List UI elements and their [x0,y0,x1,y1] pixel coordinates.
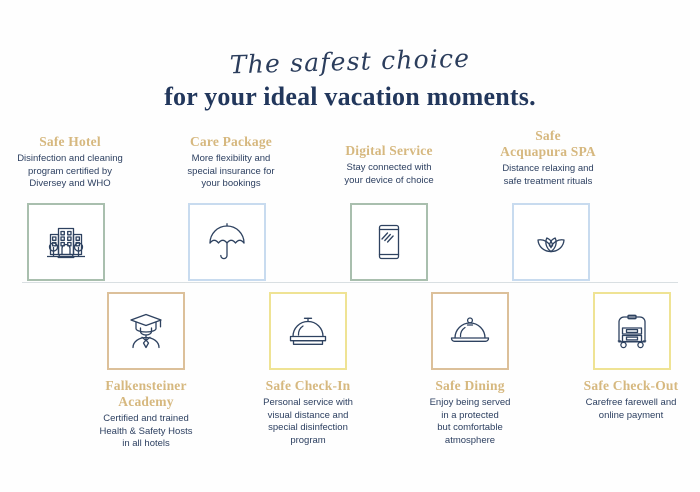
body-safe-hotel: Disinfection and cleaningprogram certifi… [0,153,155,191]
caption-care-package: Care Package More flexibility andspecial… [146,134,316,191]
food-cloche-icon [447,308,493,354]
icon-box-digital-service[interactable] [350,203,428,281]
body-safe-check-in: Personal service withvisual distance and… [223,397,393,447]
icon-box-safe-hotel[interactable] [27,203,105,281]
heading-safe-check-out: Safe Check-Out [546,378,700,394]
page-title: for your ideal vacation moments. [0,82,700,112]
icon-box-safe-acquapura-spa[interactable] [512,203,590,281]
heading-safe-hotel: Safe Hotel [0,134,155,150]
body-safe-acquapura-spa: Distance relaxing andsafe treatment ritu… [463,163,633,188]
icon-box-care-package[interactable] [188,203,266,281]
smartphone-icon [366,219,412,265]
icon-box-safe-dining[interactable] [431,292,509,370]
reception-bell-icon [285,308,331,354]
infographic-root: The safest choice for your ideal vacatio… [0,0,700,492]
icon-box-safe-check-in[interactable] [269,292,347,370]
heading-digital-service: Digital Service [304,143,474,159]
heading-safe-dining: Safe Dining [385,378,555,394]
heading-care-package: Care Package [146,134,316,150]
heading-safe-check-in: Safe Check-In [223,378,393,394]
umbrella-icon [204,219,250,265]
caption-safe-check-in: Safe Check-In Personal service withvisua… [223,378,393,447]
body-safe-check-out: Carefree farewell andonline payment [546,397,700,422]
graduate-icon [123,308,169,354]
caption-safe-hotel: Safe Hotel Disinfection and cleaningprog… [0,134,155,191]
icon-box-falkensteiner-academy[interactable] [107,292,185,370]
caption-digital-service: Digital Service Stay connected withyour … [304,143,474,187]
caption-safe-acquapura-spa: SafeAcquapura SPA Distance relaxing ands… [463,128,633,188]
body-falkensteiner-academy: Certified and trainedHealth & Safety Hos… [61,413,231,451]
heading-safe-acquapura-spa: SafeAcquapura SPA [463,128,633,160]
lotus-flower-icon [528,219,574,265]
title-script-line: The safest choice [0,37,700,86]
caption-safe-dining: Safe Dining Enjoy being servedin a prote… [385,378,555,447]
body-safe-dining: Enjoy being servedin a protectedbut comf… [385,397,555,447]
timeline-connector-line [22,282,678,283]
caption-falkensteiner-academy: FalkensteinerAcademy Certified and train… [61,378,231,451]
icon-box-safe-check-out[interactable] [593,292,671,370]
caption-safe-check-out: Safe Check-Out Carefree farewell andonli… [546,378,700,422]
luggage-cart-icon [609,308,655,354]
heading-falkensteiner-academy: FalkensteinerAcademy [61,378,231,410]
hotel-building-icon [43,219,89,265]
body-care-package: More flexibility andspecial insurance fo… [146,153,316,191]
body-digital-service: Stay connected withyour device of choice [304,162,474,187]
